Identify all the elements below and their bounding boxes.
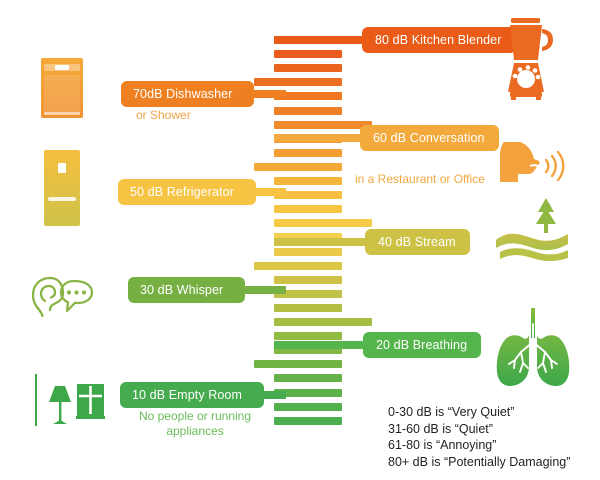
ladder-bar: [274, 417, 342, 425]
ladder-bar: [254, 360, 342, 368]
ladder-bar: [274, 332, 342, 340]
callout-label-stream: 40 dB Stream: [378, 235, 456, 249]
ladder-bar: [274, 121, 372, 129]
refrigerator-icon: [44, 150, 80, 231]
legend-line-2: 61-80 is “Annoying”: [388, 437, 570, 454]
ladder-bar: [254, 78, 342, 86]
callout-stream[interactable]: 40 dB Stream: [365, 229, 470, 255]
ladder-bar: [274, 149, 342, 157]
ladder-bar: [274, 374, 342, 382]
connector-kitchen-blender: [274, 36, 370, 44]
callout-whisper[interactable]: 30 dB Whisper: [128, 277, 245, 303]
callout-label-conversation: 60 dB Conversation: [373, 131, 485, 145]
callout-breathing[interactable]: 20 dB Breathing: [363, 332, 481, 358]
sublabel-conversation: in a Restaurant or Office: [355, 172, 485, 187]
talking-head-icon: [496, 138, 566, 193]
ladder-bar: [274, 276, 342, 284]
legend-line-0: 0-30 dB is “Very Quiet”: [388, 404, 570, 421]
callout-label-whisper: 30 dB Whisper: [140, 283, 223, 297]
callout-label-breathing: 20 dB Breathing: [376, 338, 467, 352]
connector-breathing: [274, 341, 368, 349]
legend-line-3: 80+ dB is “Potentially Damaging”: [388, 454, 570, 471]
empty-room-icon: [33, 372, 105, 433]
blender-icon: [497, 18, 559, 105]
callout-empty-room[interactable]: 10 dB Empty Room: [120, 382, 264, 408]
sublabel-dishwasher: or Shower: [136, 108, 191, 123]
infographic-canvas: 80 dB Kitchen Blender 70dB Dishwasher or…: [0, 0, 600, 480]
stream-icon: [494, 196, 570, 267]
ladder-bar: [254, 163, 342, 171]
callout-label-empty-room: 10 dB Empty Room: [132, 388, 242, 402]
callout-label-dishwasher: 70dB Dishwasher: [133, 87, 232, 101]
ladder-bar: [274, 177, 342, 185]
callout-conversation[interactable]: 60 dB Conversation: [360, 125, 499, 151]
connector-conversation: [274, 134, 366, 142]
ladder-bar: [274, 205, 342, 213]
callout-refrigerator[interactable]: 50 dB Refrigerator: [118, 179, 256, 205]
ladder-bar: [254, 262, 342, 270]
sublabel-empty-room-line1: No people or running: [120, 409, 270, 424]
ladder-bar: [274, 219, 372, 227]
ladder-bar: [274, 318, 372, 326]
connector-stream: [274, 238, 370, 246]
ladder-bar: [274, 50, 342, 58]
ladder-bar: [274, 304, 342, 312]
ladder-bar: [274, 248, 342, 256]
sublabel-empty-room: No people or running appliances: [120, 409, 270, 439]
callout-label-refrigerator: 50 dB Refrigerator: [130, 185, 234, 199]
callout-dishwasher[interactable]: 70dB Dishwasher: [121, 81, 254, 107]
dishwasher-icon: [40, 57, 84, 124]
legend: 0-30 dB is “Very Quiet” 31-60 dB is “Qui…: [388, 404, 570, 470]
callout-label-kitchen-blender: 80 dB Kitchen Blender: [375, 33, 502, 47]
callout-kitchen-blender[interactable]: 80 dB Kitchen Blender: [362, 27, 516, 53]
ladder-bar: [274, 64, 342, 72]
ladder-bar: [274, 107, 342, 115]
ladder-bar: [274, 403, 342, 411]
legend-line-1: 31-60 dB is “Quiet”: [388, 421, 570, 438]
lungs-icon: [493, 308, 573, 395]
sublabel-empty-room-line2: appliances: [120, 424, 270, 439]
ear-speech-icon: [28, 273, 98, 322]
